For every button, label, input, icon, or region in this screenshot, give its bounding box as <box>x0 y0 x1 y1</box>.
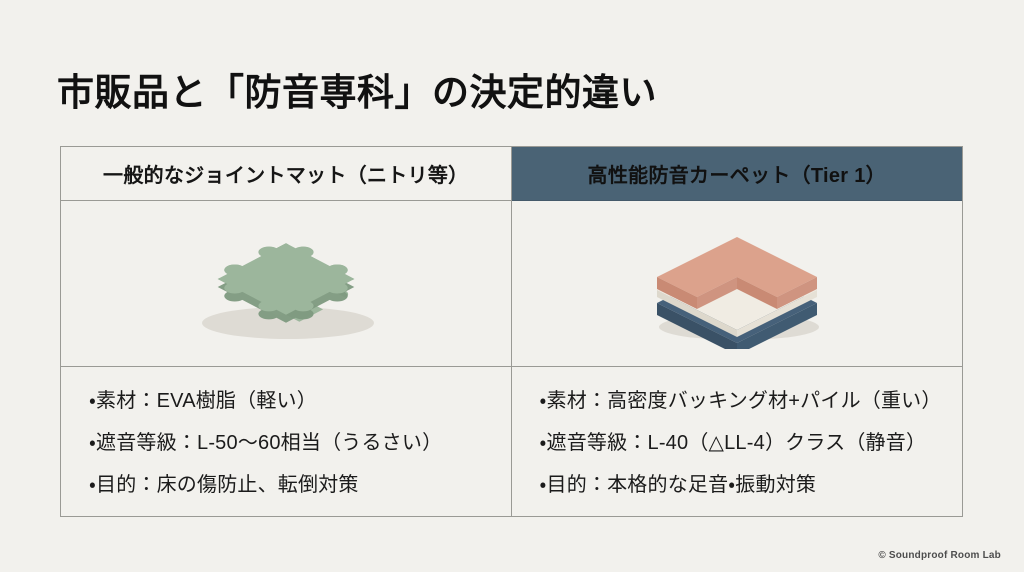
bullet-list-soundproof-carpet: ・素材：高密度バッキング材+パイル（重い） ・遮音等級：L-40（△LL-4）ク… <box>512 367 963 516</box>
column-header-soundproof-carpet-label: 高性能防音カーペット（Tier 1） <box>588 159 886 188</box>
list-item: ・目的：本格的な足音・振動対策 <box>540 475 963 495</box>
puzzle-joint-mat-icon <box>176 219 396 349</box>
footer-credit: © Soundproof Room Lab <box>878 550 1001 561</box>
column-header-joint-mat-label: 一般的なジョイントマット（ニトリ等） <box>103 159 468 188</box>
table-figure-row <box>61 201 962 367</box>
comparison-table: 一般的なジョイントマット（ニトリ等） 高性能防音カーペット（Tier 1） <box>60 146 963 517</box>
table-header-row: 一般的なジョイントマット（ニトリ等） 高性能防音カーペット（Tier 1） <box>61 147 962 201</box>
list-item: ・遮音等級：L-50〜60相当（うるさい） <box>89 433 511 453</box>
column-header-soundproof-carpet: 高性能防音カーペット（Tier 1） <box>512 147 963 201</box>
figure-cell-soundproof-carpet <box>512 201 963 367</box>
column-header-joint-mat: 一般的なジョイントマット（ニトリ等） <box>61 147 512 201</box>
list-item: ・遮音等級：L-40（△LL-4）クラス（静音） <box>540 433 963 453</box>
list-item: ・目的：床の傷防止、転倒対策 <box>89 475 511 495</box>
page-title: 市販品と「防音専科」の決定的違い <box>57 62 657 116</box>
bullet-list-joint-mat: ・素材：EVA樹脂（軽い） ・遮音等級：L-50〜60相当（うるさい） ・目的：… <box>61 367 512 516</box>
table-bullet-row: ・素材：EVA樹脂（軽い） ・遮音等級：L-50〜60相当（うるさい） ・目的：… <box>61 367 962 516</box>
figure-cell-joint-mat <box>61 201 512 367</box>
list-item: ・素材：高密度バッキング材+パイル（重い） <box>540 391 963 411</box>
list-item: ・素材：EVA樹脂（軽い） <box>89 391 511 411</box>
layered-carpet-icon <box>627 219 847 349</box>
